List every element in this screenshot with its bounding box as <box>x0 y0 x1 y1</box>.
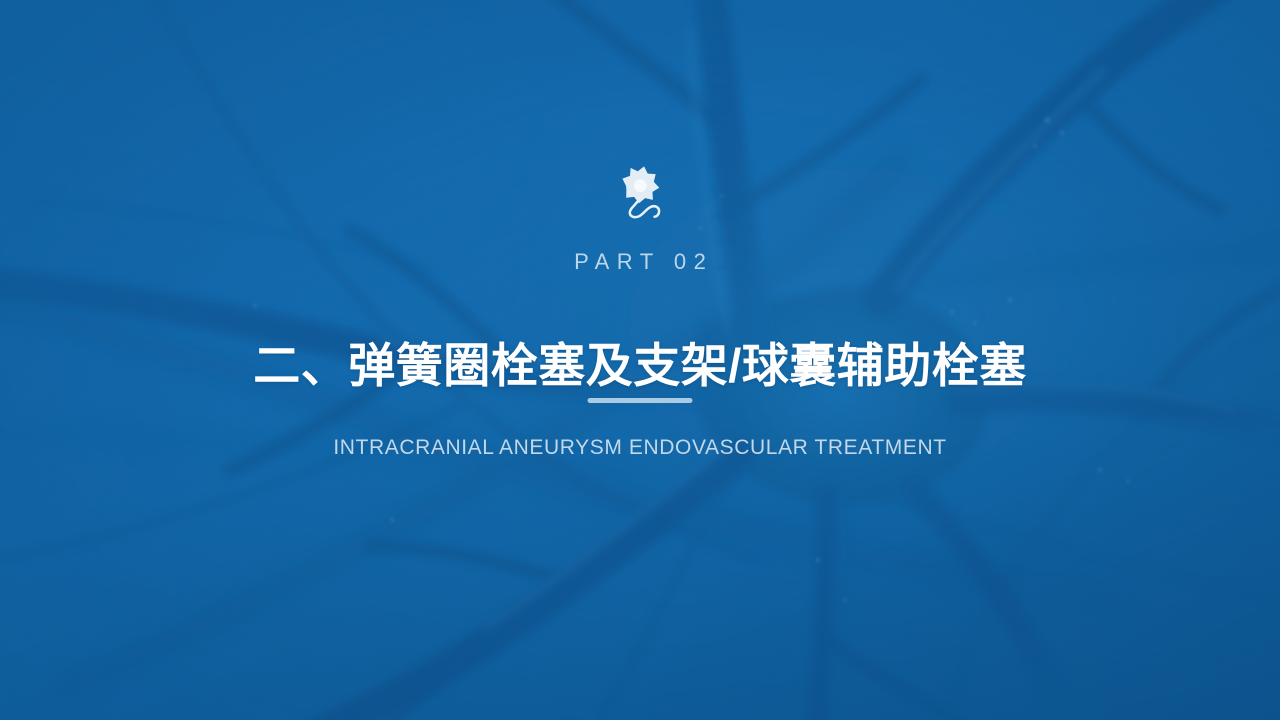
title-divider <box>588 398 693 403</box>
section-divider-slide: PART 02 二、弹簧圈栓塞及支架/球囊辅助栓塞 INTRACRANIAL A… <box>0 0 1280 720</box>
page-title: 二、弹簧圈栓塞及支架/球囊辅助栓塞 <box>0 336 1280 396</box>
flower-coil-icon <box>607 163 673 221</box>
subtitle: INTRACRANIAL ANEURYSM ENDOVASCULAR TREAT… <box>0 434 1280 462</box>
part-label: PART 02 <box>0 248 1280 276</box>
